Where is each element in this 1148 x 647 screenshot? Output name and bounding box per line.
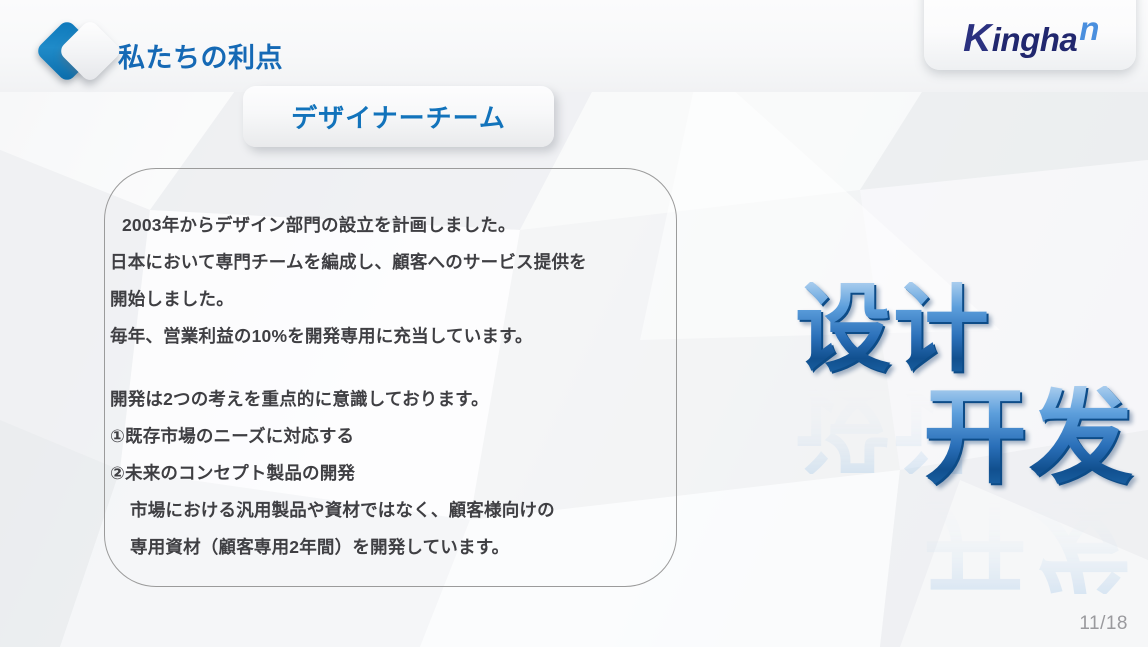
body-line: 開始しました。 [110,281,670,318]
develop-word-3d: 开发 [923,386,1135,490]
body-line: ②未来のコンセプト製品の開発 [110,455,670,492]
company-logo: Kinghan n [924,0,1136,70]
subtitle-badge: デザイナーチーム [243,86,554,147]
body-line-spacer [110,355,670,381]
body-line: ①既存市場のニーズに対応する [110,418,670,455]
body-line: 2003年からデザイン部門の設立を計画しました。 [110,207,670,244]
logo-main: ingha [992,21,1078,58]
body-text-block: 2003年からデザイン部門の設立を計画しました。 日本において専門チームを編成し… [110,207,670,566]
page-number: 11/18 [1079,613,1128,635]
body-line: 毎年、営業利益の10%を開発専用に充当しています。 [110,318,670,355]
subtitle-label: デザイナーチーム [291,98,506,135]
slide-canvas: 私たちの利点 Kinghan n デザイナーチーム 2003年からデザイン部門の… [0,0,1148,647]
logo-tail: n [1079,12,1099,45]
logo-initial: K [963,17,992,60]
body-line: 専用資材（顧客専用2年間）を開発しています。 [110,529,670,566]
body-line: 日本において専門チームを編成し、顧客へのサービス提供を [110,244,670,281]
design-word-3d: 设计 [795,282,991,378]
page-title: 私たちの利点 [118,36,283,75]
body-line: 市場における汎用製品や資材ではなく、顧客様向けの [110,492,670,529]
body-line: 開発は2つの考えを重点的に意識しております。 [110,381,670,418]
logo-wordmark: Kinghan n [963,19,1097,58]
develop-word-reflection: 开发 [923,490,1135,594]
